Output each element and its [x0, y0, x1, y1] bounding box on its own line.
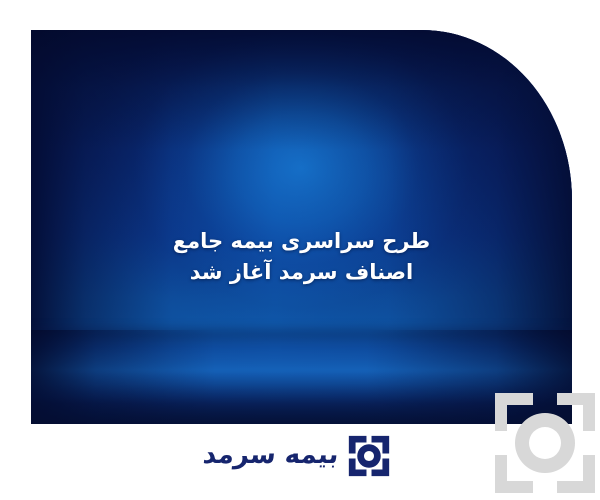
- backdrop-top-shade: [31, 30, 572, 150]
- sarmad-logo-lockup: بیمه سرمد: [218, 428, 390, 484]
- headline-line-2: اصناف سرمد آغاز شد: [31, 257, 572, 288]
- promo-banner: طرح سراسری بیمه جامع اصناف سرمد آغاز شد …: [0, 0, 600, 500]
- headline-line-1: طرح سراسری بیمه جامع: [31, 226, 572, 257]
- backdrop-bottom-shade: [31, 372, 572, 424]
- logo-wordmark: بیمه سرمد: [201, 442, 339, 470]
- sarmad-pinwheel-icon: [348, 435, 390, 477]
- headline: طرح سراسری بیمه جامع اصناف سرمد آغاز شد: [31, 226, 572, 288]
- studio-backdrop-panel: طرح سراسری بیمه جامع اصناف سرمد آغاز شد: [31, 30, 572, 424]
